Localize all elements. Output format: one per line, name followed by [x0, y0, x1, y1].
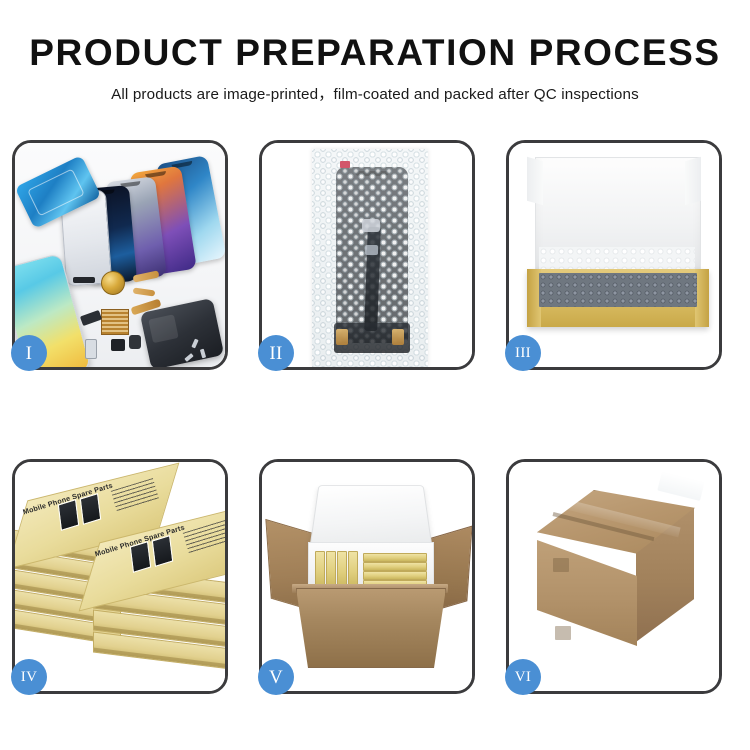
step-panel-6: VI — [506, 459, 722, 694]
step-5-image — [262, 462, 472, 691]
red-label-tab — [340, 161, 350, 168]
screen-graphic — [80, 493, 101, 525]
camera-module-part — [111, 339, 125, 351]
box-edge — [94, 648, 225, 669]
connector-upper — [362, 219, 380, 232]
battery-part — [85, 339, 97, 359]
gold-contact-tab — [336, 329, 348, 345]
step-panel-1: I — [12, 140, 228, 370]
lid-flap-right — [685, 157, 701, 206]
process-steps-grid: I I — [12, 140, 738, 694]
carton-hand-slot — [555, 626, 571, 640]
screen-graphic — [152, 535, 173, 567]
yellow-box-item — [363, 571, 427, 580]
kraft-box-tray — [527, 269, 709, 327]
screen-graphic — [130, 541, 151, 573]
lid-flap-left — [527, 157, 543, 206]
step-badge-4: IV — [11, 659, 47, 695]
yellow-box-item — [363, 562, 427, 571]
chip-grid-part — [101, 309, 129, 335]
page-title: PRODUCT PREPARATION PROCESS — [0, 34, 750, 73]
vibrator-part — [129, 335, 141, 349]
connector-lower — [365, 245, 378, 255]
gold-contact-tab — [392, 329, 404, 345]
step-badge-5: V — [258, 659, 294, 695]
step-4-image: Mobile Phone Spare Parts Mobile Phone Sp… — [15, 462, 225, 691]
step-badge-6: VI — [505, 659, 541, 695]
box-stack: Mobile Phone Spare Parts Mobile Phone Sp… — [15, 462, 225, 691]
step-1-image — [15, 143, 225, 367]
speaker-coil-part — [101, 271, 125, 295]
product-preparation-infographic: PRODUCT PREPARATION PROCESS All products… — [0, 0, 750, 750]
step-panel-2: II — [259, 140, 475, 370]
step-badge-3: III — [505, 335, 541, 371]
bubble-wrap-bag — [312, 149, 428, 367]
step-panel-3: III — [506, 140, 722, 370]
header: PRODUCT PREPARATION PROCESS All products… — [0, 34, 750, 104]
carton-body — [296, 588, 446, 668]
earpiece-part — [73, 277, 95, 283]
yellow-box-item — [363, 553, 427, 562]
step-2-image — [262, 143, 472, 367]
step-panel-4: Mobile Phone Spare Parts Mobile Phone Sp… — [12, 459, 228, 694]
step-panel-5: V — [259, 459, 475, 694]
step-badge-2: II — [258, 335, 294, 371]
bubble-wrapped-contents — [539, 273, 697, 307]
carton-hand-slot — [553, 558, 569, 572]
screen-graphic — [58, 499, 79, 531]
step-6-image — [509, 462, 719, 691]
tray-lip-right — [695, 269, 709, 327]
page-subtitle: All products are image-printed，film-coat… — [0, 82, 750, 104]
step-badge-1: I — [11, 335, 47, 371]
step-3-image — [509, 143, 719, 367]
